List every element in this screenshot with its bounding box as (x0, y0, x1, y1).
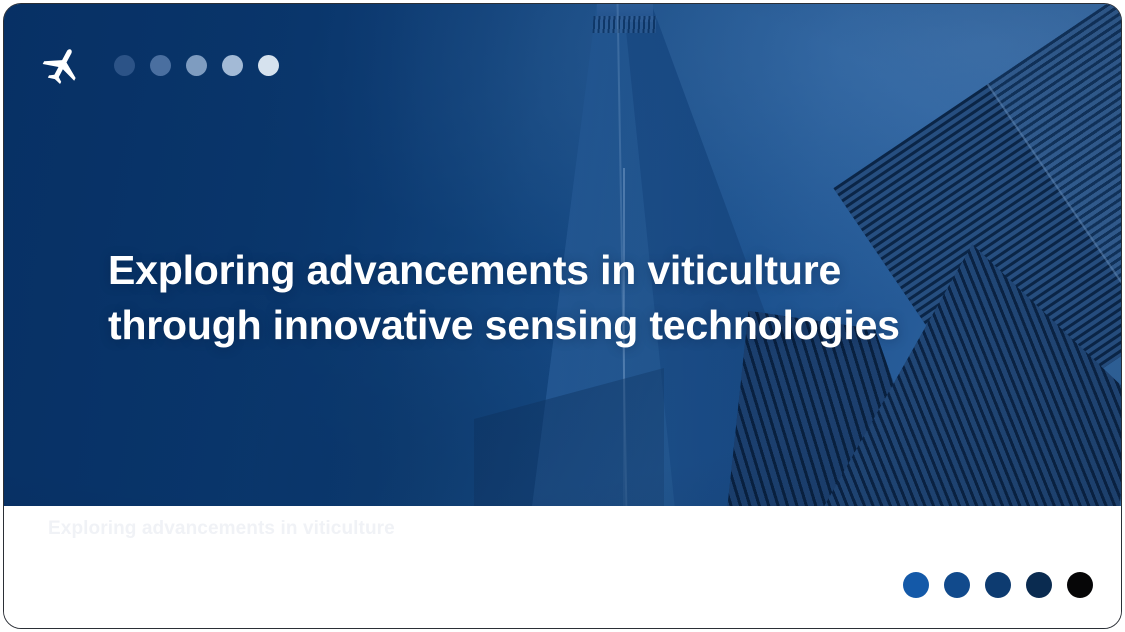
hero-topbar (40, 42, 279, 88)
footer-palette-dots (903, 572, 1093, 598)
airplane-icon (40, 42, 86, 88)
slide-card: Exploring advancements in viticulture th… (3, 3, 1122, 629)
hero-dot-5 (258, 55, 279, 76)
footer-dot-2 (944, 572, 970, 598)
slide-title-line-1: Exploring advancements in viticulture (108, 243, 1008, 297)
slide-title: Exploring advancements in viticulture th… (108, 243, 1008, 351)
hero-progress-dots (114, 55, 279, 76)
footer-dot-3 (985, 572, 1011, 598)
hero-banner: Exploring advancements in viticulture th… (4, 4, 1121, 506)
slide-title-line-2: through innovative sensing technologies (108, 298, 1008, 352)
hero-dot-3 (186, 55, 207, 76)
slide-body: Exploring advancements in viticulture (4, 506, 1121, 629)
hero-dot-2 (150, 55, 171, 76)
hero-dot-1 (114, 55, 135, 76)
hero-dot-4 (222, 55, 243, 76)
ghost-title-text: Exploring advancements in viticulture (48, 518, 395, 540)
footer-dot-4 (1026, 572, 1052, 598)
footer-dot-1 (903, 572, 929, 598)
footer-dot-5 (1067, 572, 1093, 598)
